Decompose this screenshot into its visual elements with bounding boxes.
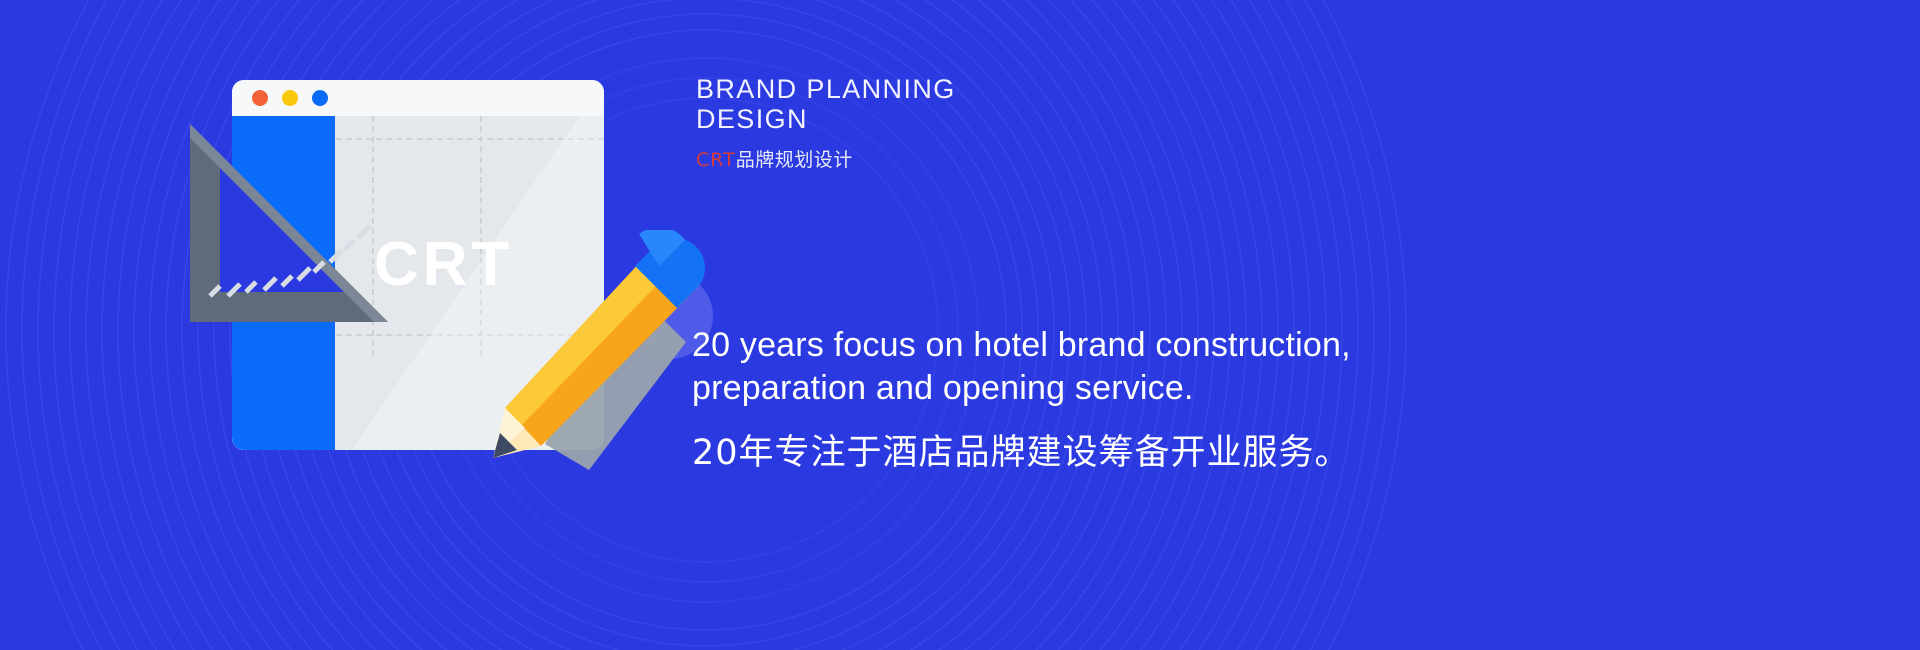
set-square-ruler-icon [186, 120, 392, 326]
maximize-dot-icon[interactable] [312, 90, 328, 106]
hero-illustration: CRT [186, 58, 766, 578]
window-titlebar [232, 80, 604, 116]
heading-chinese-text: 品牌规划设计 [736, 149, 853, 171]
heading-chinese: CRT品牌规划设计 [696, 145, 956, 172]
brand-banner: CRT [0, 0, 1920, 650]
pencil-icon [481, 230, 711, 470]
brand-prefix: CRT [696, 149, 736, 171]
heading-english: BRAND PLANNING DESIGN [696, 74, 956, 134]
headings-block: BRAND PLANNING DESIGN CRT品牌规划设计 [696, 74, 956, 172]
tagline-block: 20 years focus on hotel brand constructi… [692, 324, 1842, 475]
close-dot-icon[interactable] [252, 90, 268, 106]
minimize-dot-icon[interactable] [282, 90, 298, 106]
tagline-english: 20 years focus on hotel brand constructi… [692, 324, 1842, 410]
tagline-chinese: 20年专注于酒店品牌建设筹备开业服务。 [692, 424, 1842, 475]
